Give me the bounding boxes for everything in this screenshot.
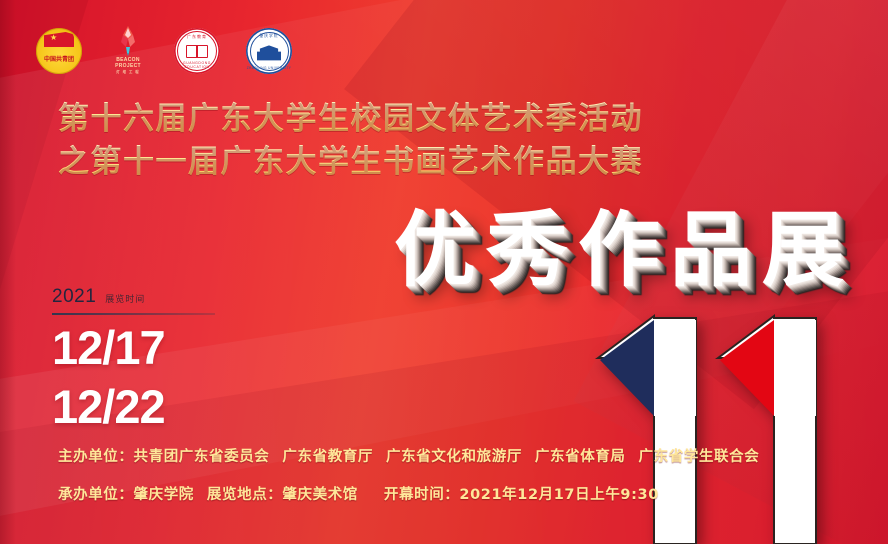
date-year: 2021 (52, 286, 96, 308)
host-value: 肇庆学院 (134, 487, 194, 503)
beacon-project-logo-icon: BEACON PROJECT 灯 塔 工 程 (108, 26, 148, 76)
date-end: 12/22 (52, 381, 242, 433)
seal-top-text: 广东教育 (174, 34, 220, 40)
footer-line-details: 承办单位：肇庆学院展览地点：肇庆美术馆开幕时间：2021年12月17日上午9:3… (58, 483, 759, 504)
title-line-1: 第十六届广东大学生校园文体艺术季活动 (58, 98, 643, 141)
communist-youth-league-emblem-icon: ★ 中国共青团 (36, 28, 82, 74)
torch-icon (117, 26, 139, 56)
open-book-icon (186, 45, 208, 59)
organizers-label: 主办单位： (58, 449, 134, 465)
beacon-subtitle: 灯 塔 工 程 (108, 69, 148, 75)
date-label: 展览时间 (105, 292, 145, 305)
title-block: 第十六届广东大学生校园文体艺术季活动 之第十一届广东大学生书画艺术作品大赛 (58, 98, 643, 184)
host-label: 承办单位： (58, 487, 134, 503)
organizer-2: 广东省教育厅 (282, 449, 373, 465)
flag-shape (44, 32, 74, 47)
title-line-2: 之第十一届广东大学生书画艺术作品大赛 (58, 141, 643, 184)
numeral-second-one (718, 316, 816, 544)
organizer-4: 广东省体育局 (535, 449, 626, 465)
cyl-emblem-label: 中国共青团 (36, 54, 82, 63)
organizer-5: 广东省学生联合会 (639, 449, 760, 465)
date-divider (52, 313, 215, 315)
star-icon: ★ (50, 34, 57, 42)
beacon-logo-text: BEACON PROJECT 灯 塔 工 程 (108, 57, 148, 75)
zhaoqing-university-seal-icon: 肇庆学院 ZHAOQING UNIVERSITY (246, 28, 292, 74)
left-edge-shade (0, 0, 16, 544)
date-block: 2021 展览时间 12/17 12/22 (52, 286, 242, 433)
seal-bottom-text: GUANGDONG EDUCATION (174, 61, 220, 69)
numeral-eleven-graphic (592, 304, 842, 544)
logo-row: ★ 中国共青团 BEACON PROJECT 灯 塔 工 程 (36, 26, 292, 76)
numeral-first-one (598, 316, 696, 544)
book-page-right (196, 45, 208, 58)
venue-value: 肇庆美术馆 (282, 487, 358, 503)
organizer-1: 共青团广东省委员会 (134, 449, 270, 465)
footer-info: 主办单位：共青团广东省委员会广东省教育厅广东省文化和旅游厅广东省体育局广东省学生… (58, 445, 759, 504)
univ-seal-bottom-text: ZHAOQING UNIVERSITY (246, 66, 292, 70)
date-header: 2021 展览时间 (52, 286, 242, 308)
torch-svg (117, 26, 139, 56)
univ-seal-top-text: 肇庆学院 (246, 34, 292, 39)
opening-time-label: 开幕时间： (384, 487, 460, 503)
headline-exhibition-title: 优秀作品展 (394, 204, 854, 298)
footer-line-organizers: 主办单位：共青团广东省委员会广东省教育厅广东省文化和旅游厅广东省体育局广东省学生… (58, 445, 759, 466)
venue-label: 展览地点： (207, 487, 283, 503)
organizer-3: 广东省文化和旅游厅 (386, 449, 522, 465)
opening-time-value: 2021年12月17日上午9:30 (459, 487, 658, 503)
poster-canvas: ★ 中国共青团 BEACON PROJECT 灯 塔 工 程 (0, 0, 888, 544)
guangdong-education-seal-icon: 广东教育 GUANGDONG EDUCATION (174, 28, 220, 74)
date-start: 12/17 (52, 322, 242, 374)
